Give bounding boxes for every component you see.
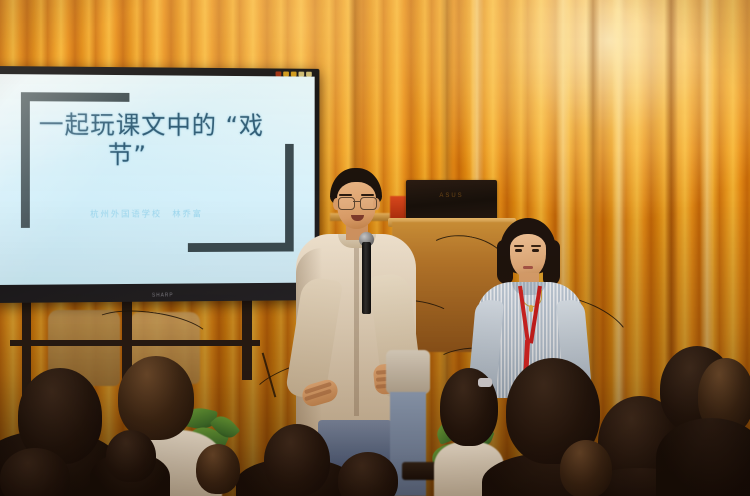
hair-clip bbox=[478, 378, 492, 387]
attendee-top bbox=[386, 350, 430, 394]
eyeglasses-icon bbox=[338, 197, 355, 210]
slide-title: 一起玩课文中的 “戏 节” bbox=[39, 110, 292, 169]
display-screen[interactable]: 一起玩课文中的 “戏 节” 杭州外国语学校 林乔富 bbox=[0, 74, 315, 285]
woman-eyebrow bbox=[514, 245, 524, 247]
necklace-pendant bbox=[529, 305, 533, 312]
laptop-brand-logo: ASUS bbox=[439, 193, 463, 199]
audience-head bbox=[264, 424, 330, 496]
woman-eye bbox=[515, 249, 522, 252]
woman-eye bbox=[532, 249, 539, 252]
slide-subtitle: 杭州外国语学校 林乔富 bbox=[90, 208, 203, 220]
slide-title-line-1: 一起玩课文中的 “戏 bbox=[39, 110, 264, 140]
microphone-icon[interactable] bbox=[362, 242, 371, 314]
audience-shoulders bbox=[656, 418, 750, 496]
slide-bracket-top-left bbox=[21, 92, 30, 228]
woman-eyebrow bbox=[531, 245, 541, 247]
audience-head bbox=[560, 440, 612, 496]
audience-head bbox=[118, 356, 194, 440]
woman-mouth bbox=[523, 266, 533, 269]
photo-scene: 一起玩课文中的 “戏 节” 杭州外国语学校 林乔富 SHARP ASUS bbox=[0, 0, 750, 496]
slide-bracket-bottom-right bbox=[188, 243, 294, 252]
slide-title-line-2: 节” bbox=[39, 140, 292, 170]
interactive-smart-display[interactable]: 一起玩课文中的 “戏 节” 杭州外国语学校 林乔富 SHARP bbox=[0, 66, 319, 303]
shirt-placket bbox=[354, 246, 359, 416]
presenter-eyebrow bbox=[361, 194, 374, 196]
eyeglasses-icon bbox=[353, 201, 360, 202]
screen-glare bbox=[0, 74, 315, 285]
eyeglasses-icon bbox=[360, 197, 377, 210]
display-brand-logo: SHARP bbox=[152, 293, 174, 299]
slide-bracket-top-left bbox=[21, 92, 130, 102]
audience-head bbox=[196, 444, 240, 494]
presenter-eyebrow bbox=[339, 194, 352, 196]
audience-head bbox=[106, 430, 156, 482]
